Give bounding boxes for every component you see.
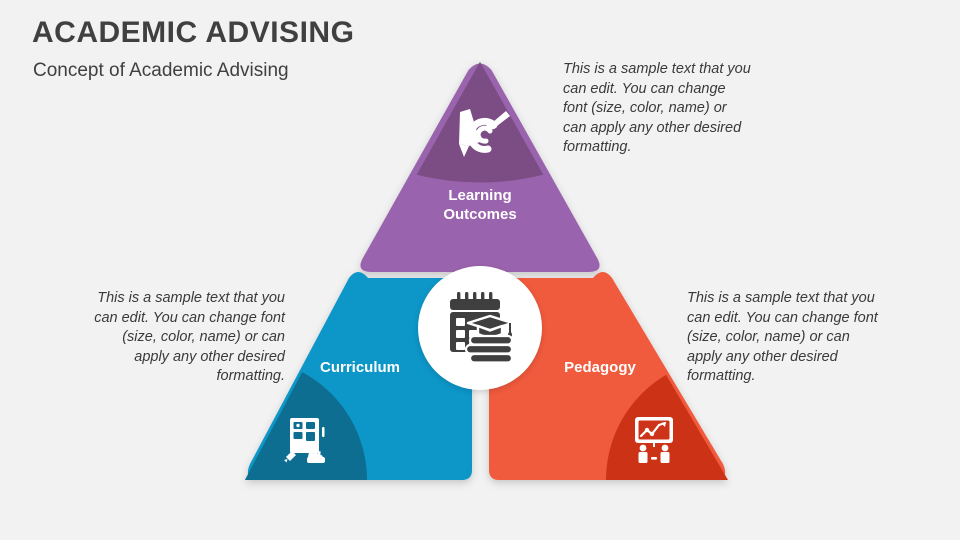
description-learning-outcomes: This is a sample text that you can edit.… (563, 60, 753, 158)
storyboard-hand-icon (282, 415, 330, 463)
description-pedagogy: This is a sample text that you can edit.… (687, 289, 887, 387)
calendar-graduation-books-icon (448, 292, 514, 364)
slide-canvas: ACADEMIC ADVISING Concept of Academic Ad… (0, 0, 960, 540)
description-curriculum: This is a sample text that you can edit.… (85, 289, 285, 387)
pencil-target-icon (450, 108, 512, 163)
presentation-chart-people-icon (629, 415, 679, 463)
